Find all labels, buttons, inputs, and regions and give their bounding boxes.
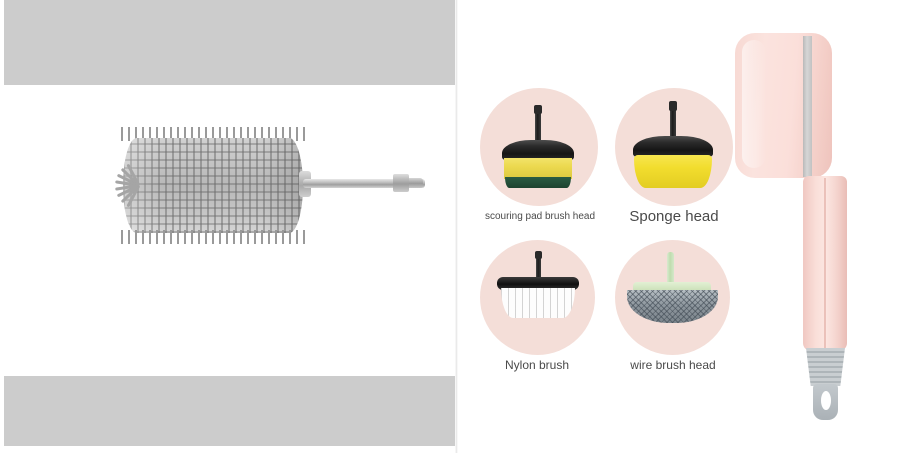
wire-brush-illustration: [615, 240, 730, 355]
nylon-brush-stem-tip: [535, 251, 542, 259]
brush-bristle-cylinder: [123, 138, 303, 233]
brush-bristle-fringe-bottom: [121, 230, 307, 244]
device-handle-end-cap: [806, 348, 845, 386]
brush-end-bristle-splay: [75, 156, 131, 216]
scouring-pad-brush-head-label: scouring pad brush head: [460, 211, 620, 222]
sponge-head-illustration: [615, 88, 733, 206]
device-handle-seam: [824, 178, 826, 350]
product-image-canvas: scouring pad brush head Sponge head Nylo…: [0, 0, 919, 453]
scouring-pad-stem-tip: [534, 105, 542, 114]
device-hanging-hole: [821, 391, 831, 410]
device-gray-accent-stripe: [803, 36, 812, 177]
nylon-brush-illustration: [480, 240, 595, 355]
scouring-pad-yellow-sponge: [504, 158, 572, 179]
wire-brush-head-label: wire brush head: [602, 358, 744, 372]
wire-brush-steel-mesh: [627, 290, 718, 323]
sponge-head-label: Sponge head: [608, 208, 740, 225]
top-gray-band: [4, 0, 456, 85]
brush-shaft-tip: [409, 178, 423, 188]
scouring-pad-illustration: [480, 88, 598, 206]
scouring-pad-green-abrasive: [505, 177, 571, 188]
device-head-highlight: [742, 40, 766, 168]
left-product-photo-panel: [0, 0, 456, 453]
nylon-brush-label: Nylon brush: [472, 358, 602, 372]
wire-brush-green-stem: [667, 252, 674, 286]
bottle-brush-product-image: [75, 138, 430, 233]
bottom-gray-band: [4, 376, 456, 446]
brush-shaft-hex-joint: [393, 174, 409, 192]
right-attachments-panel: scouring pad brush head Sponge head Nylo…: [458, 0, 919, 453]
nylon-brush-white-bristles: [501, 288, 575, 318]
sponge-head-yellow-sponge: [634, 155, 712, 188]
sponge-head-stem-tip: [669, 101, 677, 111]
